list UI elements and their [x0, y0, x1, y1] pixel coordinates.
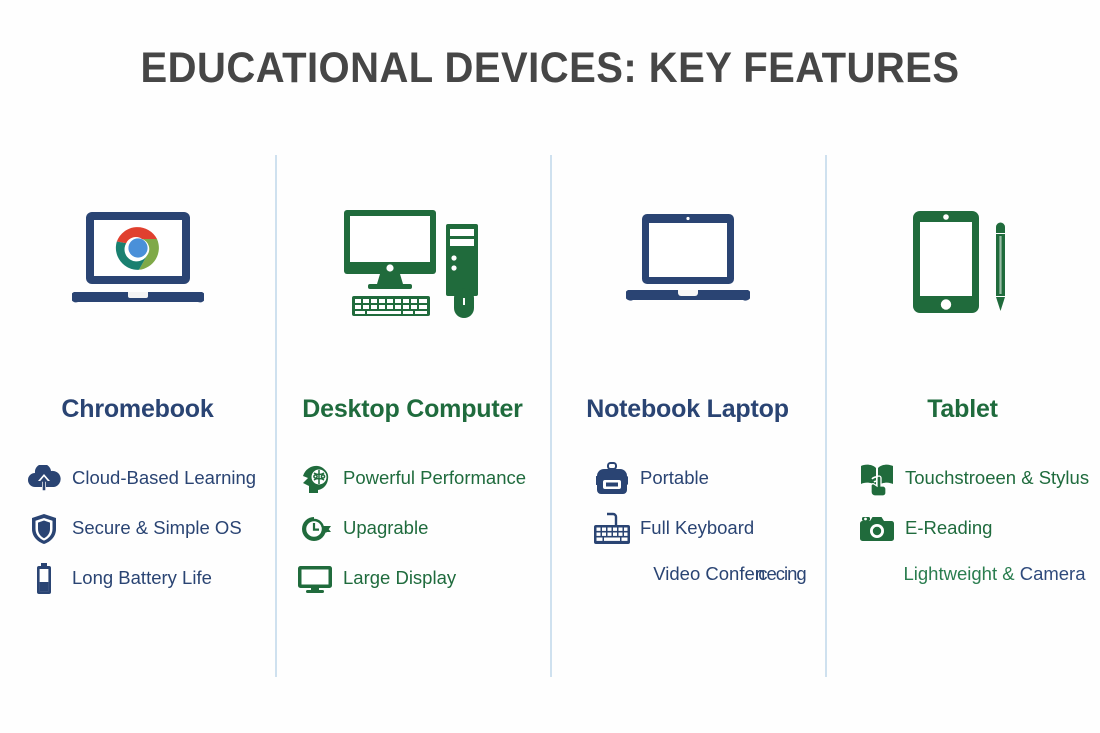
feature-label: E-Reading: [905, 512, 992, 540]
feature-item: Cloud-Based Learning: [24, 462, 299, 498]
feature-item: Secure & Simple OS: [24, 512, 299, 548]
clock-refresh-icon: [295, 512, 335, 546]
brain-head-icon: [295, 462, 335, 496]
infographic-page: EDUCATIONAL DEVICES: KEY FEATURES: [0, 0, 1100, 733]
column-desktop-computer: Desktop Computer: [275, 150, 550, 680]
feature-label: Long Battery Life: [72, 562, 212, 590]
column-heading-chromebook: Chromebook: [0, 395, 275, 424]
battery-icon: [24, 562, 64, 596]
columns-container: Chromebook Cloud-Based Learning: [0, 150, 1100, 680]
feature-label: Portable: [640, 462, 709, 490]
feature-item: Long Battery Life: [24, 562, 299, 598]
features-list-desktop-computer: Powerful Performance Upagrable: [275, 462, 570, 612]
book-touch-icon: [857, 462, 897, 496]
column-notebook-laptop: Notebook Laptop Por: [550, 150, 825, 680]
column-heading-tablet: Tablet: [825, 395, 1100, 424]
column-tablet: Tablet: [825, 150, 1100, 680]
feature-label: Video Conferncecing: [653, 562, 805, 586]
shield-icon: [24, 512, 64, 546]
monitor-icon: [295, 562, 335, 596]
desktop-computer-icon: [275, 202, 550, 322]
column-chromebook: Chromebook Cloud-Based Learning: [0, 150, 275, 680]
chromebook-laptop-icon: [0, 202, 275, 322]
features-list-chromebook: Cloud-Based Learning Secure & Simple OS: [0, 462, 299, 612]
feature-label: Touchstroeen & Stylus: [905, 462, 1089, 490]
feature-item: Powerful Performance: [295, 462, 570, 498]
column-heading-notebook-laptop: Notebook Laptop: [550, 395, 825, 424]
page-title: EDUCATIONAL DEVICES: KEY FEATURES: [39, 44, 1062, 93]
feature-label: Upagrable: [343, 512, 428, 540]
feature-label: Secure & Simple OS: [72, 512, 242, 540]
feature-item: Large Display: [295, 562, 570, 598]
feature-item: Lightweight & Camera: [857, 562, 1100, 598]
feature-label: Cloud-Based Learning: [72, 462, 256, 490]
features-list-tablet: Touchstroeen & Stylus E-Reading: [825, 462, 1100, 612]
backpack-icon: [592, 462, 632, 496]
camera-icon: [857, 512, 897, 546]
cloud-upload-icon: [24, 462, 64, 496]
notebook-laptop-icon: [550, 202, 825, 322]
keyboard-icon: [592, 512, 632, 546]
feature-label: Powerful Performance: [343, 462, 526, 490]
features-list-notebook-laptop: Portable: [550, 462, 867, 612]
feature-label: Lightweight & Camera: [903, 562, 1085, 586]
feature-label: Full Keyboard: [640, 512, 754, 540]
column-heading-desktop-computer: Desktop Computer: [275, 395, 550, 424]
feature-item: Touchstroeen & Stylus: [857, 462, 1100, 498]
tablet-stylus-icon: [825, 202, 1100, 322]
feature-item: E-Reading: [857, 512, 1100, 548]
feature-item: Upagrable: [295, 512, 570, 548]
feature-label: Large Display: [343, 562, 456, 590]
